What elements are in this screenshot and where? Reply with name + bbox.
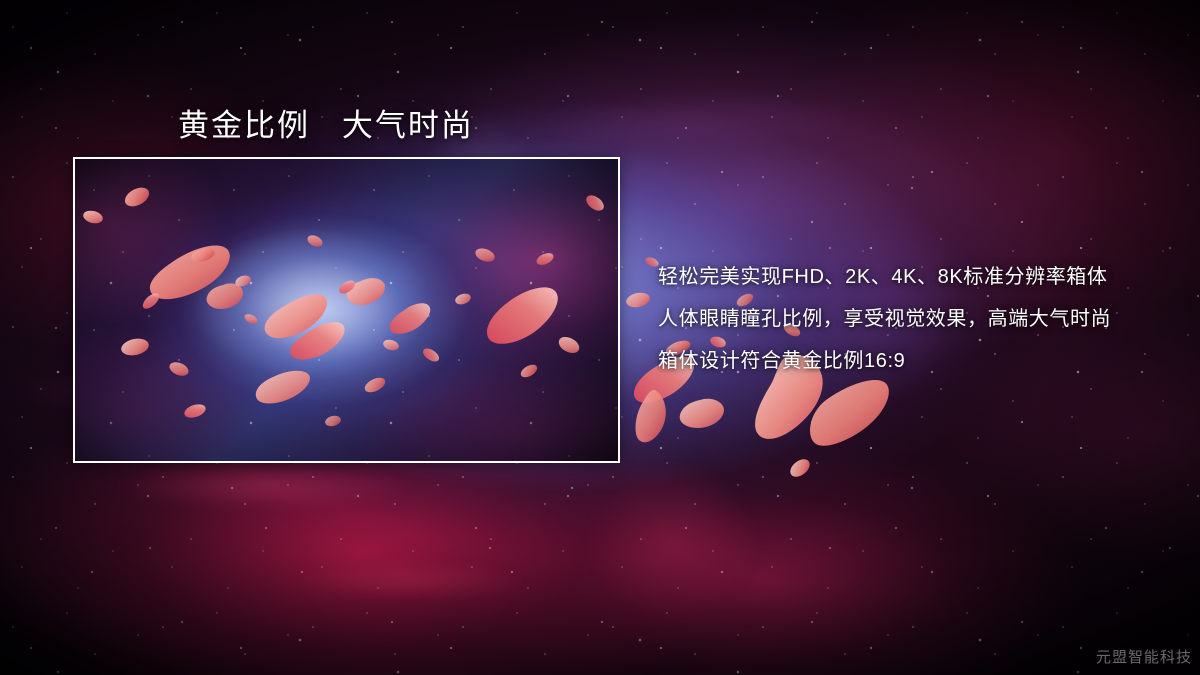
framed-nebula-photo <box>73 157 620 463</box>
body-line-1: 轻松完美实现FHD、2K、4K、8K标准分辨率箱体 <box>658 256 1188 298</box>
body-copy: 轻松完美实现FHD、2K、4K、8K标准分辨率箱体 人体眼睛瞳孔比例，享受视觉效… <box>658 256 1188 382</box>
presentation-slide: 黄金比例 大气时尚 轻松完美实现FHD、2K、4K、8K标准分辨率箱体 人体眼睛… <box>0 0 1200 675</box>
page-title: 黄金比例 大气时尚 <box>178 100 474 145</box>
photo-vignette <box>75 159 618 461</box>
watermark: 元盟智能科技 <box>1096 646 1192 667</box>
photo-inner <box>75 159 618 461</box>
body-line-2: 人体眼睛瞳孔比例，享受视觉效果，高端大气时尚 <box>658 298 1188 340</box>
body-line-3: 箱体设计符合黄金比例16:9 <box>658 340 1188 382</box>
